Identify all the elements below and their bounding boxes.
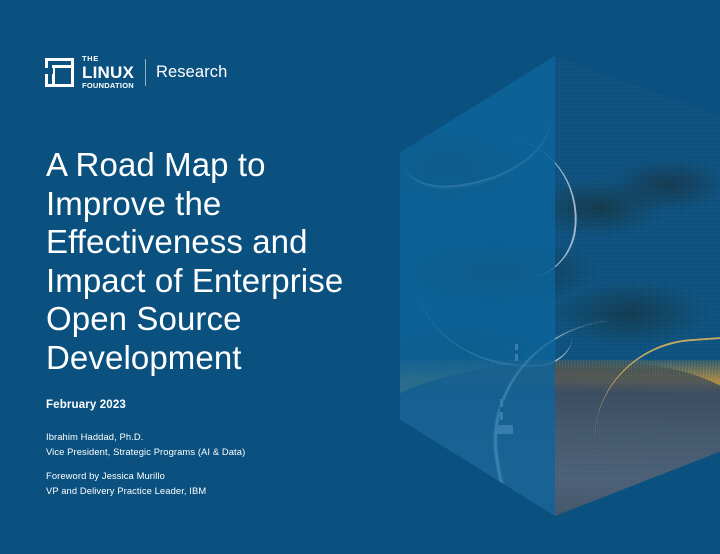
foreword-group: Foreword by Jessica Murillo VP and Deliv… [46,469,245,498]
foreword-role: VP and Delivery Practice Leader, IBM [46,484,245,499]
logo-word-the: THE [82,55,134,63]
hero-hexagon-image [397,56,720,516]
foreword-name: Foreword by Jessica Murillo [46,469,245,484]
logo-research-label: Research [156,63,227,82]
author-name: Ibrahim Haddad, Ph.D. [46,430,245,445]
author-role: Vice President, Strategic Programs (AI &… [46,445,245,460]
linux-foundation-logo-mark [45,58,74,87]
logo-lockup: THE LINUX FOUNDATION Research [45,55,227,89]
page-title: A Road Map to Improve the Effectiveness … [46,146,386,377]
logo-mark-inner [52,65,74,87]
logo-word-foundation: FOUNDATION [82,82,134,90]
logo-divider [145,59,146,86]
logo-word-linux: LINUX [82,64,134,81]
publication-date: February 2023 [46,399,126,411]
hero-blue-overlay [397,56,555,516]
logo-mark-notch [45,68,53,74]
logo-wordmark: THE LINUX FOUNDATION [82,55,134,89]
author-credits: Ibrahim Haddad, Ph.D. Vice President, St… [46,430,245,498]
report-cover: THE LINUX FOUNDATION Research A Road Map… [0,0,720,554]
author-group: Ibrahim Haddad, Ph.D. Vice President, St… [46,430,245,459]
